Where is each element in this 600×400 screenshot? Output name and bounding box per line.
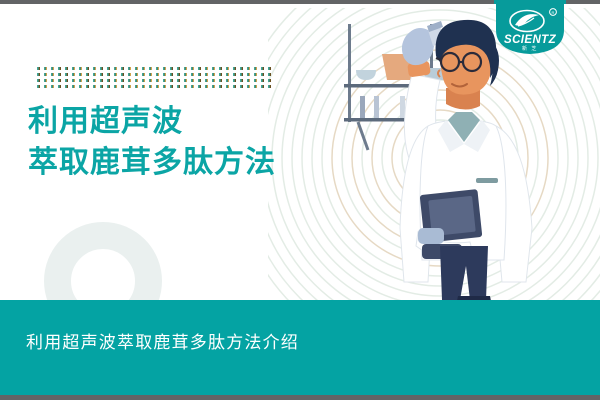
logo-wordmark: SCIENTZ [504, 34, 557, 46]
caption-text: 利用超声波萃取鹿茸多肽方法介绍 [26, 328, 299, 353]
bottom-chrome-bar [0, 395, 600, 400]
head-group [436, 20, 499, 110]
brand-logo[interactable]: R SCIENTZ 新 芝 [494, 2, 566, 54]
page-title-line-1: 利用超声波 [28, 101, 358, 142]
logo-sub-wordmark: 新 芝 [522, 45, 538, 52]
dot-grid-pattern [37, 66, 287, 92]
page-title: 利用超声波 萃取鹿茸多肽方法 [28, 101, 358, 184]
trousers-group [440, 246, 492, 306]
svg-text:R: R [552, 10, 555, 15]
promo-poster: 利用超声波 萃取鹿茸多肽方法 利用超声波萃取鹿茸多肽方法介绍 R SCIENTZ… [0, 0, 600, 400]
page-title-line-2: 萃取鹿茸多肽方法 [28, 142, 358, 183]
